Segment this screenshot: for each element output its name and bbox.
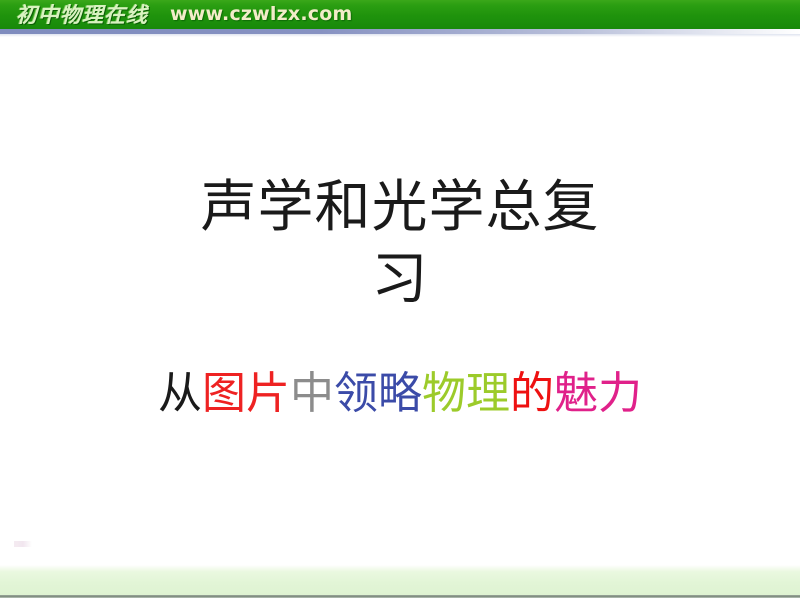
banner-divider-fade [0,34,800,37]
subtitle-segment-6: 魅力 [554,368,642,419]
title-block: 声学和光学总复习 [100,172,700,316]
subtitle-segment-4: 物理 [422,368,510,419]
subtitle: 从图片中领略物理的魅力 [0,368,800,420]
stray-artifact-mark [14,541,32,547]
subtitle-segment-3: 领略 [334,368,422,419]
subtitle-segment-0: 从 [158,368,202,419]
site-url-text: www.czwlzx.com [170,0,353,29]
site-logo-text: 初中物理在线 [16,1,148,28]
footer-band [0,565,800,595]
site-banner: 初中物理在线 www.czwlzx.com [0,0,800,29]
subtitle-segment-5: 的 [510,368,554,419]
page-title: 声学和光学总复习 [190,172,610,316]
subtitle-segment-1: 图片 [202,368,290,419]
presentation-slide: 初中物理在线 www.czwlzx.com 声学和光学总复习 从图片中领略物理的… [0,0,800,600]
subtitle-segment-2: 中 [290,368,334,419]
